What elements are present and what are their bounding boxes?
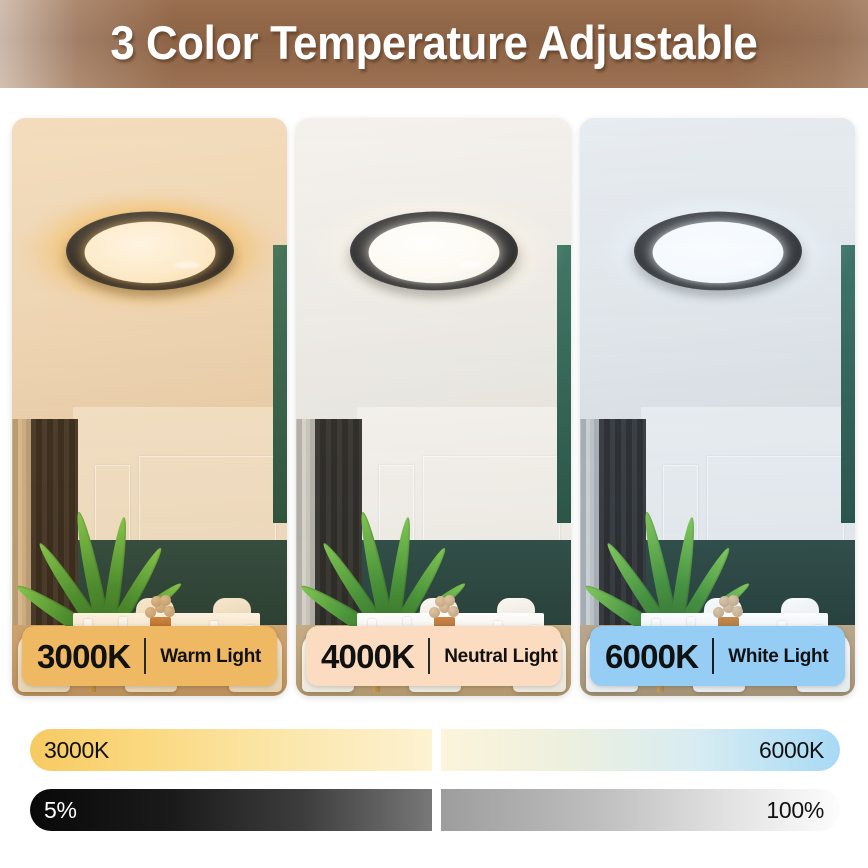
brightness-bar-right[interactable]: 100% — [441, 789, 840, 831]
scene-neutral — [296, 118, 571, 696]
wall-art — [557, 245, 571, 522]
lamp-highlight — [741, 261, 767, 268]
wall-art — [273, 245, 287, 522]
brightness-min-label: 5% — [44, 799, 77, 822]
temperature-name: Warm Light — [160, 647, 261, 666]
lamp-highlight — [173, 261, 199, 268]
kelvin-value: 4000K — [321, 640, 414, 673]
badge-divider — [712, 638, 714, 674]
color-temperature-min-label: 3000K — [44, 739, 109, 762]
temperature-badge-cool: 6000K White Light — [590, 626, 845, 686]
brightness-slider[interactable]: 5% 100% — [0, 789, 868, 831]
scene-warm — [12, 118, 287, 696]
brightness-bar-left[interactable]: 5% — [30, 789, 432, 831]
temperature-name: Neutral Light — [444, 647, 557, 666]
lamp-diffuser — [84, 222, 215, 284]
temperature-badge-warm: 3000K Warm Light — [22, 626, 277, 686]
wall-art — [841, 245, 855, 522]
page-title: 3 Color Temperature Adjustable — [110, 19, 757, 69]
color-temperature-slider[interactable]: 3000K 6000K — [0, 729, 868, 771]
color-temperature-bar-right[interactable]: 6000K — [441, 729, 840, 771]
color-temperature-max-label: 6000K — [759, 739, 824, 762]
kelvin-value: 3000K — [37, 640, 130, 673]
temperature-panels: 3000K Warm Light — [12, 118, 856, 696]
badge-divider — [144, 638, 146, 674]
kelvin-value: 6000K — [605, 640, 698, 673]
decor-ball — [164, 606, 175, 617]
ceiling-lamp — [634, 212, 802, 291]
slider-bars: 3000K 6000K 5% 100% — [0, 712, 868, 852]
ceiling-lamp — [350, 212, 518, 291]
brightness-max-label: 100% — [766, 799, 824, 822]
badge-divider — [428, 638, 430, 674]
decor-ball — [732, 606, 743, 617]
color-temperature-bar-left[interactable]: 3000K — [30, 729, 432, 771]
decor-ball — [728, 595, 739, 606]
infographic-page: 3 Color Temperature Adjustable — [0, 0, 868, 868]
temperature-panel-cool: 6000K White Light — [580, 118, 855, 696]
scene-cool — [580, 118, 855, 696]
decor-ball — [160, 595, 171, 606]
ceiling-lamp — [66, 212, 234, 291]
lamp-diffuser — [652, 222, 783, 284]
temperature-name: White Light — [728, 647, 828, 666]
temperature-panel-neutral: 4000K Neutral Light — [296, 118, 571, 696]
temperature-panel-warm: 3000K Warm Light — [12, 118, 287, 696]
temperature-badge-neutral: 4000K Neutral Light — [306, 626, 561, 686]
lamp-highlight — [457, 261, 483, 268]
decor-ball — [448, 606, 459, 617]
header-banner: 3 Color Temperature Adjustable — [0, 0, 868, 88]
decor-ball — [444, 595, 455, 606]
lamp-diffuser — [368, 222, 499, 284]
